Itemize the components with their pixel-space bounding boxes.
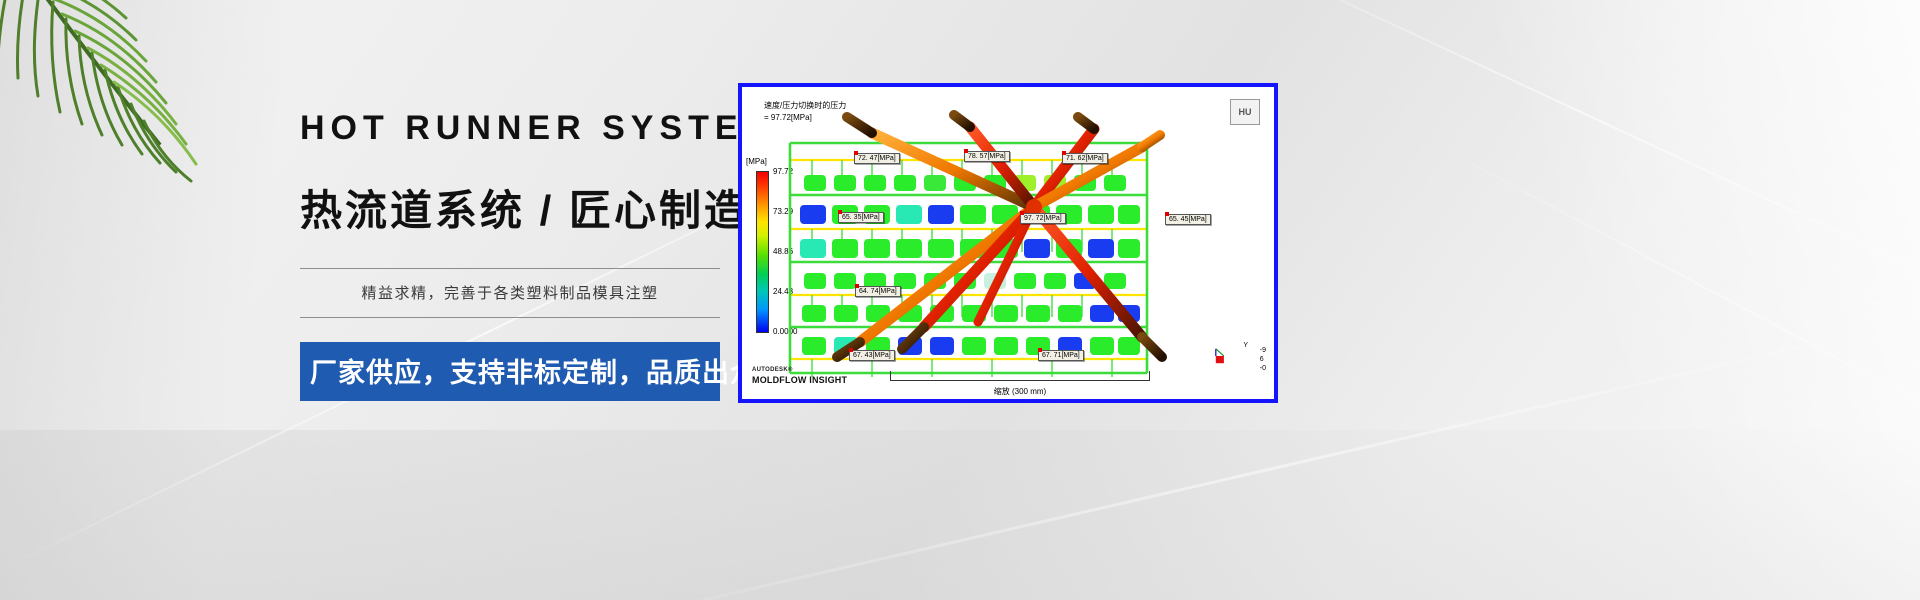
axis-tick-labels: -96-0 bbox=[1260, 346, 1266, 373]
bottom-shadow-overlay bbox=[0, 430, 1920, 600]
moldflow-product-name: MOLDFLOW INSIGHT bbox=[752, 375, 847, 385]
hero-subtitle: 精益求精，完善于各类塑料制品模具注塑 bbox=[300, 269, 720, 317]
scale-bar-label: 缩放 (300 mm) bbox=[890, 386, 1150, 397]
cta-banner[interactable]: 厂家供应，支持非标定制，品质出众 bbox=[300, 342, 720, 401]
subtitle-rules: 精益求精，完善于各类塑料制品模具注塑 bbox=[300, 268, 720, 318]
moldflow-analysis-panel[interactable]: 速度/压力切换时的压力 = 97.72[MPa] HU [MPa] 97.72 … bbox=[738, 83, 1278, 403]
axis-y-label: Y bbox=[1243, 342, 1248, 349]
moldflow-canvas: 速度/压力切换时的压力 = 97.72[MPa] HU [MPa] 97.72 … bbox=[742, 87, 1274, 399]
hero-eyebrow: HOT RUNNER SYSTEM bbox=[300, 110, 720, 147]
page-title: 热流道系统 / 匠心制造 bbox=[300, 177, 720, 238]
hero-text-block: HOT RUNNER SYSTEM 热流道系统 / 匠心制造 精益求精，完善于各… bbox=[300, 110, 720, 401]
callout-label[interactable]: 65. 35[MPa] bbox=[838, 212, 884, 223]
callout-label[interactable]: 71. 62[MPa] bbox=[1062, 153, 1108, 164]
callout-label[interactable]: 67. 43[MPa] bbox=[849, 350, 895, 361]
runner-mesh-geometry bbox=[742, 87, 1274, 399]
callout-label[interactable]: 65. 45[MPa] bbox=[1165, 214, 1211, 225]
axis-triad-icon bbox=[1214, 347, 1232, 365]
divider-bottom bbox=[300, 317, 720, 318]
scale-bar bbox=[890, 371, 1150, 381]
callout-label[interactable]: 78. 57[MPa] bbox=[964, 151, 1010, 162]
callout-label[interactable]: 64. 74[MPa] bbox=[855, 286, 901, 297]
callout-label[interactable]: 72. 47[MPa] bbox=[854, 153, 900, 164]
autodesk-brand: AUTODESK® bbox=[752, 367, 793, 373]
callout-label[interactable]: 97. 72[MPa] bbox=[1020, 213, 1066, 224]
palm-leaf-decoration bbox=[0, 0, 290, 230]
callout-label[interactable]: 67. 71[MPa] bbox=[1038, 350, 1084, 361]
